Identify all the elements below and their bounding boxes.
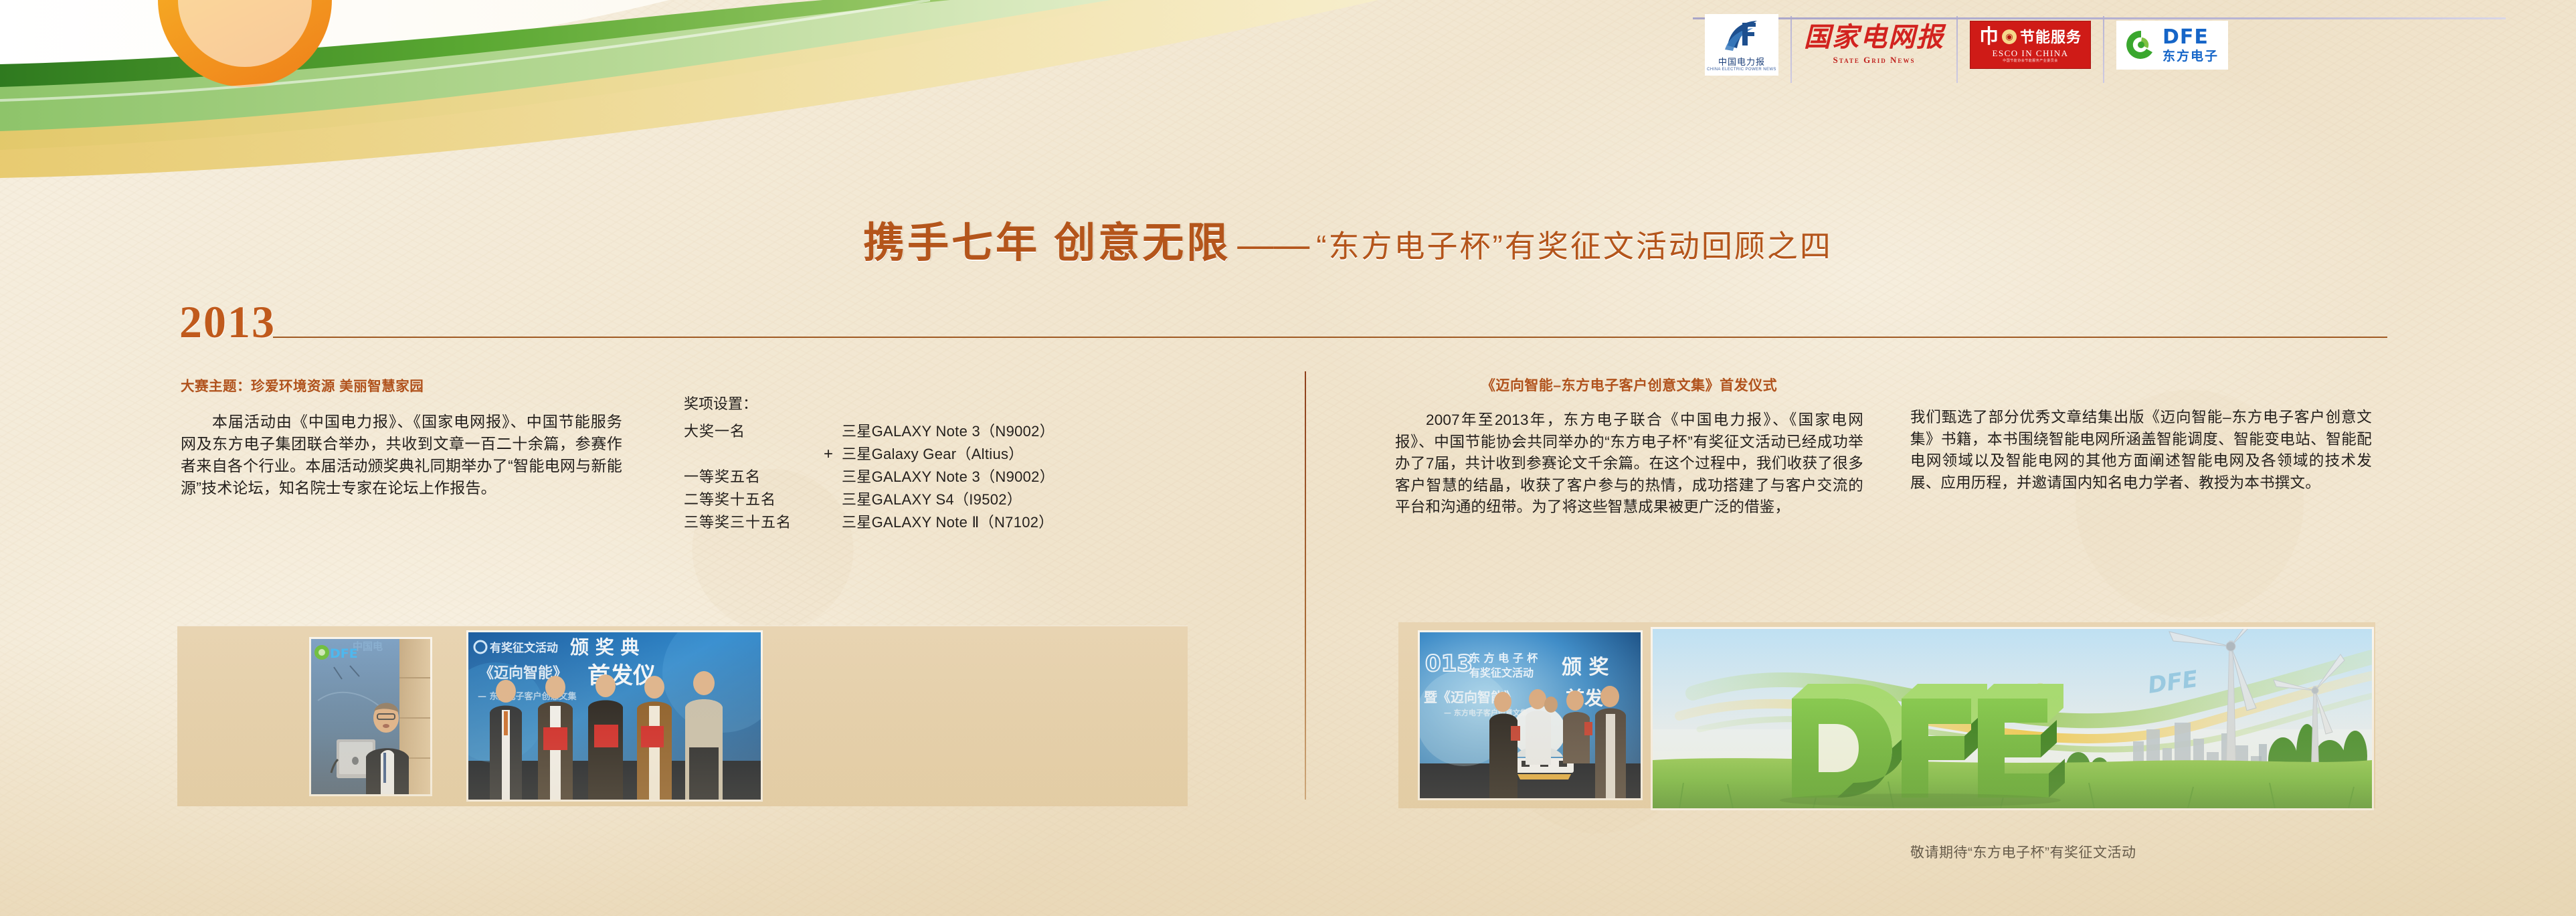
esco-mark-icon: 巾 [1979,27,1999,47]
awards-title: 奖项设置： [684,392,1219,414]
svg-text:013: 013 [1425,650,1473,677]
right-paragraph: 我们甄选了部分优秀文章结集出版《迈向智能–东方电子客户创意文集》书籍，本书围绕智… [1910,407,2372,494]
photo-dfe-landscape-graphic: s DFE [1653,629,2372,808]
poster-page: 中国电力报 CHINA ELECTRIC POWER NEWS 国家电网报 St… [0,0,2576,916]
banner-title-dash: —— [1237,225,1309,265]
award-row: 大奖一名 三星GALAXY Note 3（N9002） [684,420,1219,443]
book-launch-title: 《迈向智能–东方电子客户创意文集》首发仪式 [1395,375,1863,395]
photo-book-launch-ceremony: 013 东 方 电 子 杯 有奖征文活动 颁 奖 暨《迈向智能》 首发 — 东方… [1420,632,1641,798]
banner-title-main: 携手七年 创意无限 [863,220,1230,266]
year-heading: 2013 [179,300,276,344]
photo-strip-left: DFE 中国电 [177,626,1188,806]
contest-theme: 大赛主题：珍爱环境资源 美丽智慧家园 [181,375,622,395]
esco-label-en: ESCO IN CHINA [1979,49,2082,58]
award-prize: 三星GALAXY S4（I9502） [842,488,1022,511]
dfe-label-en: DFE [2163,27,2219,48]
year-underline [273,337,2387,338]
left-column: 大赛主题：珍爱环境资源 美丽智慧家园 本届活动由《中国电力报》、《国家电网报》、… [181,375,622,499]
dfe-label-cn: 东方电子 [2163,50,2219,63]
svg-text:有奖征文活动: 有奖征文活动 [1469,666,1534,679]
mid-paragraph-text: 2007年至2013年，东方电子联合《中国电力报》、《国家电网报》、中国节能协会… [1395,411,1863,515]
logo-dfe: DFE 东方电子 [2104,5,2240,84]
award-row: 三等奖三十五名 三星GALAXY Note Ⅱ（N7102） [684,511,1219,534]
dfe-swirl-icon [2126,29,2156,60]
photo-speaker-graphic: DFE 中国电 [311,639,430,794]
photo-speaker-at-podium: DFE 中国电 [311,639,430,794]
esco-badge-icon: ◉ [2002,29,2017,44]
award-prize: 三星GALAXY Note 3（N9002） [842,466,1054,488]
cepn-label-en: CHINA ELECTRIC POWER NEWS [1707,68,1776,72]
year-heading-block: 2013 [179,301,2387,344]
photo-ceremony-graphic: 013 东 方 电 子 杯 有奖征文活动 颁 奖 暨《迈向智能》 首发 — 东方… [1420,632,1641,798]
svg-text:— 东方电子客户创意文集: — 东方电子客户创意文集 [1444,708,1528,717]
cepn-label-cn: 中国电力报 [1718,55,1765,68]
left-paragraph: 本届活动由《中国电力报》、《国家电网报》、中国节能服务网及东方电子集团联合举办，… [181,411,622,499]
photo-group-graphic: 有奖征文活动 颁 奖 典 《迈向智能》 首发仪 — 东方电子客户创意文集 [468,632,761,800]
esco-label-tiny: 中国节能协会节能服务产业委员会 [1979,60,2082,63]
award-row: 二等奖十五名 三星GALAXY S4（I9502） [684,488,1219,511]
award-prize: 三星GALAXY Note Ⅱ（N7102） [842,511,1054,534]
green-swoosh-graphic [0,0,1439,187]
award-prize: 三星GALAXY Note 3（N9002） [842,420,1054,443]
svg-text:颁 奖: 颁 奖 [1562,656,1608,679]
right-column: 我们甄选了部分优秀文章结集出版《迈向智能–东方电子客户创意文集》书籍，本书围绕智… [1910,407,2372,494]
banner-title-sub: “东方电子杯”有奖征文活动回顾之四 [1316,229,1833,264]
footer-caption: 敬请期待“东方电子杯”有奖征文活动 [1910,842,2379,862]
logo-esco-in-china: 巾 ◉ 节能服务 ESCO IN CHINA 中国节能协会节能服务产业委员会 [1958,5,2103,84]
logo-state-grid-news: 国家电网报 State Grid News [1792,5,1956,84]
svg-text:有奖征文活动: 有奖征文活动 [490,641,558,655]
sgn-label-en: State Grid News [1833,55,1916,66]
left-paragraph-text: 本届活动由《中国电力报》、《国家电网报》、中国节能服务网及东方电子集团联合举办，… [181,413,622,496]
award-row: 一等奖五名 三星GALAXY Note 3（N9002） [684,466,1219,488]
award-name: 三等奖三十五名 [684,511,815,534]
mid-paragraph: 2007年至2013年，东方电子联合《中国电力报》、《国家电网报》、中国节能协会… [1395,409,1863,519]
svg-text:中国电: 中国电 [353,640,383,652]
banner-title: 携手七年 创意无限——“东方电子杯”有奖征文活动回顾之四 [863,209,2335,261]
award-plus: + [815,443,842,466]
svg-text:颁 奖 典: 颁 奖 典 [570,636,640,658]
dfe-3d-letters [1780,684,2065,807]
cepn-wave-icon [1722,19,1761,54]
partner-logo-bar: 中国电力报 CHINA ELECTRIC POWER NEWS 国家电网报 St… [1693,5,2556,84]
award-row: + 三星Galaxy Gear（Altius） [684,443,1219,466]
logo-china-electric-power-news: 中国电力报 CHINA ELECTRIC POWER NEWS [1693,5,1790,84]
photo-dfe-green-field: s DFE [1653,629,2372,808]
book-launch-section: 《迈向智能–东方电子客户创意文集》首发仪式 2007年至2013年，东方电子联合… [1395,375,1863,519]
photo-award-winners-group: 有奖征文活动 颁 奖 典 《迈向智能》 首发仪 — 东方电子客户创意文集 [468,632,761,800]
award-prize: 三星Galaxy Gear（Altius） [842,443,1024,466]
column-divider [1305,371,1306,800]
esco-label-cn: 节能服务 [2020,29,2082,45]
award-name: 二等奖十五名 [684,488,815,511]
award-name: 一等奖五名 [684,466,815,488]
awards-section: 奖项设置： 大奖一名 三星GALAXY Note 3（N9002） + 三星Ga… [684,392,1219,534]
sgn-label-cn: 国家电网报 [1804,24,1944,51]
award-name: 大奖一名 [684,420,815,443]
svg-text:东 方 电 子 杯: 东 方 电 子 杯 [1469,652,1538,664]
